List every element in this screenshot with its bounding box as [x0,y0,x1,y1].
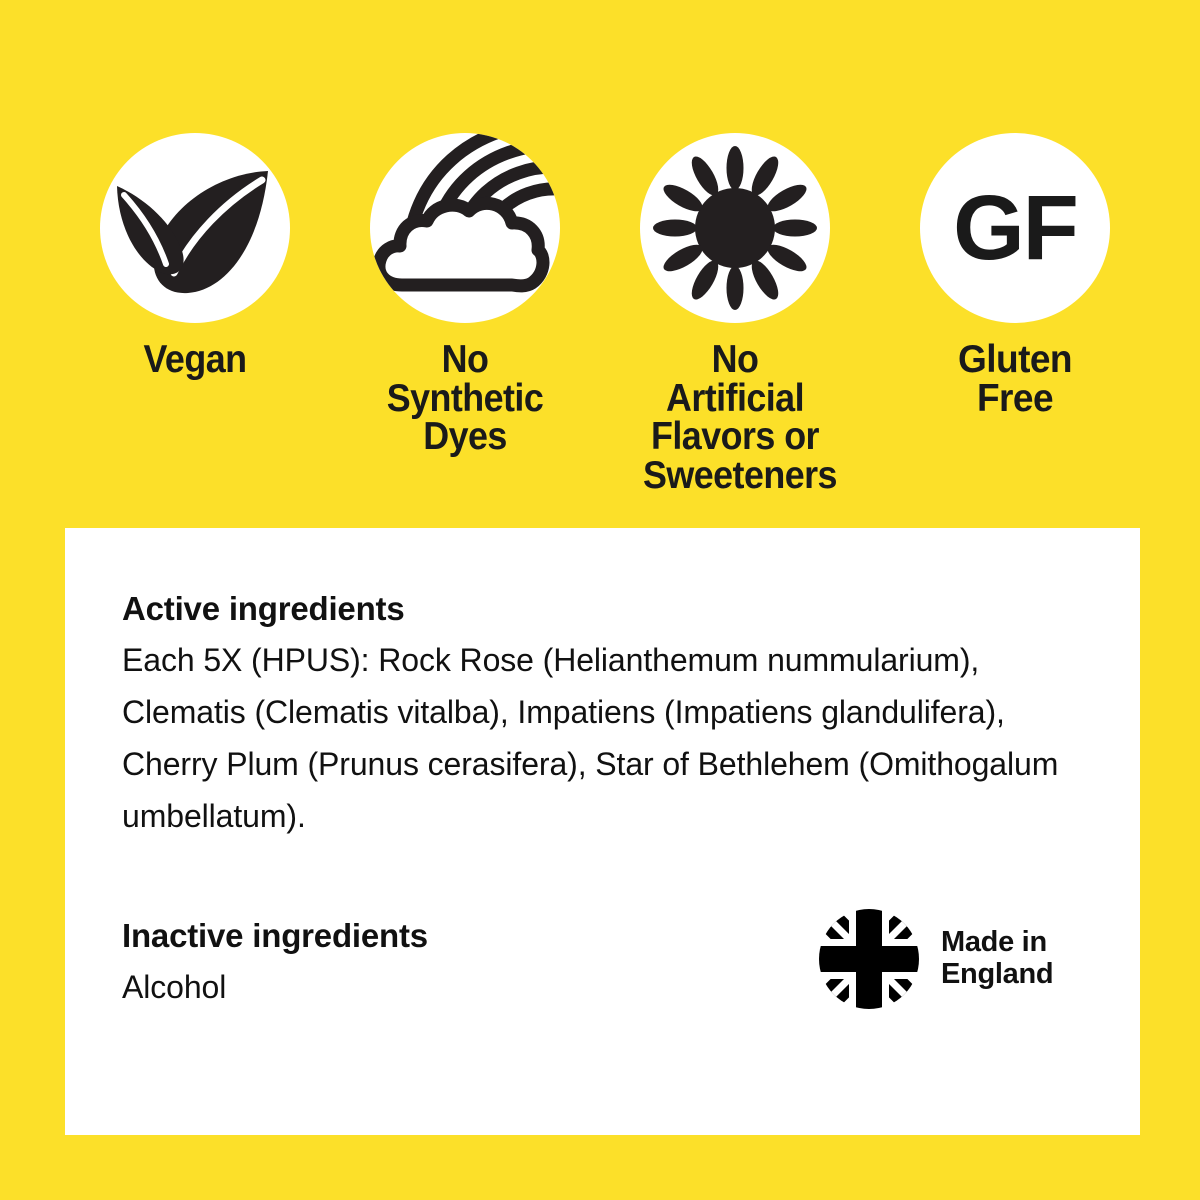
active-ingredients-heading: Active ingredients [122,590,1140,628]
badge-flavors-circle [640,133,830,323]
badge-gluten-free: GF Gluten Free [915,133,1115,418]
badge-glutenfree-label: Gluten Free [920,341,1110,418]
rainbow-cloud-icon [370,133,560,323]
badge-no-artificial-flavors: No Artificial Flavors or Sweeteners [635,133,835,495]
ingredients-card: Active ingredients Each 5X (HPUS): Rock … [65,528,1140,1135]
union-jack-circle-icon [819,909,919,1009]
active-ingredients-section: Active ingredients Each 5X (HPUS): Rock … [122,590,1140,843]
certification-badge-strip: Vegan No Synth [0,133,1200,483]
badge-flavors-label: No Artificial Flavors or Sweeteners [643,341,827,495]
badge-no-synthetic-dyes: No Synthetic Dyes [365,133,565,457]
badge-vegan-label: Vegan [103,341,287,380]
inactive-ingredients-section: Inactive ingredients Alcohol Made i [122,917,1140,1013]
leaf-icon [100,133,290,323]
active-ingredients-text: Each 5X (HPUS): Rock Rose (Helianthemum … [122,634,1062,843]
badge-dyes-circle [370,133,560,323]
badge-glutenfree-circle: GF [920,133,1110,323]
badge-vegan-circle [100,133,290,323]
badge-dyes-label: No Synthetic Dyes [373,341,557,457]
made-in-england-text: Made in England [941,927,1053,991]
gf-icon: GF [920,133,1110,323]
badge-vegan: Vegan [95,133,295,380]
sun-icon [640,133,830,323]
made-in-england-badge: Made in England [819,909,1053,1009]
